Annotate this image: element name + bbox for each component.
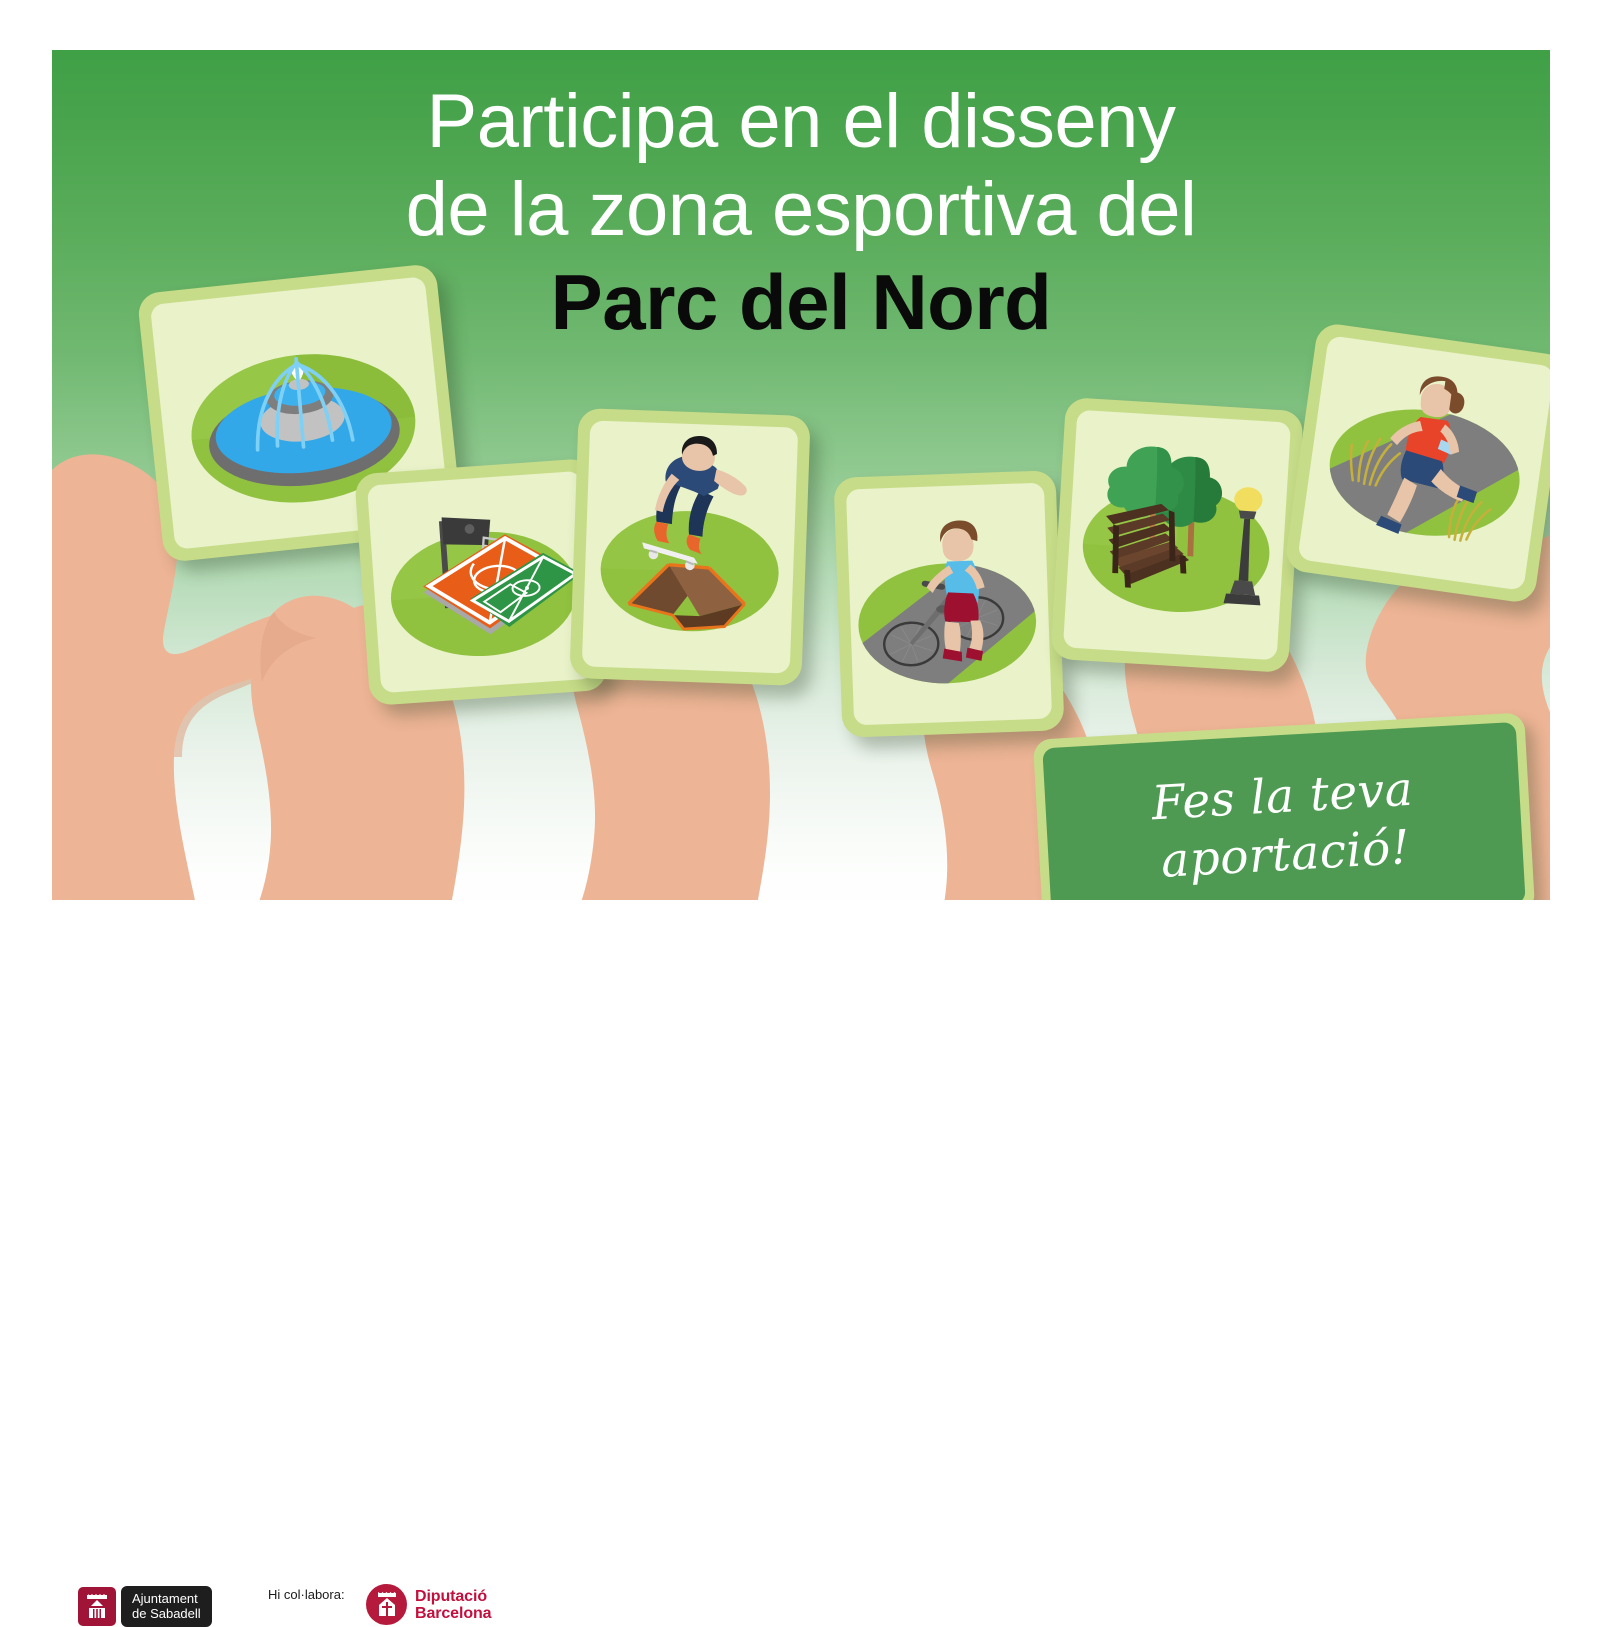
- sabadell-name-line-2: de Sabadell: [132, 1606, 201, 1621]
- runner-icon: [1297, 335, 1550, 591]
- card-skate[interactable]: [569, 408, 810, 686]
- diputacio-logo[interactable]: Diputació Barcelona: [366, 1584, 491, 1625]
- cyclist-icon: [846, 483, 1052, 726]
- card-courts-inner: [367, 471, 595, 693]
- sabadell-crest-shape: [84, 1592, 110, 1621]
- card-bike[interactable]: [834, 470, 1065, 738]
- headline-line-1: Participa en el disseny: [52, 78, 1550, 166]
- sabadell-name-line-1: Ajuntament: [132, 1591, 201, 1606]
- diputacio-name-line-1: Diputació: [415, 1588, 491, 1605]
- sabadell-name: Ajuntament de Sabadell: [121, 1586, 212, 1627]
- footer-logos: Ajuntament de Sabadell Hi col·labora: Di…: [0, 790, 1600, 850]
- sports-courts-icon: [367, 471, 595, 693]
- diputacio-crest-icon: [366, 1584, 407, 1625]
- headline-line-2: de la zona esportiva del: [52, 166, 1550, 254]
- card-runner-inner: [1297, 335, 1550, 591]
- skate-ramp-icon: [582, 420, 798, 673]
- card-skate-inner: [582, 420, 798, 673]
- diputacio-crest-shape: [375, 1591, 399, 1619]
- banner-stage: Participa en el disseny de la zona espor…: [0, 0, 1600, 900]
- diputacio-name-line-2: Barcelona: [415, 1605, 491, 1622]
- card-courts[interactable]: [354, 458, 608, 706]
- collaborate-label: Hi col·labora:: [268, 1587, 345, 1602]
- card-bench-tree-lamp-inner: [1063, 410, 1291, 661]
- bench-tree-lamp-icon: [1063, 410, 1291, 661]
- card-runner[interactable]: [1284, 322, 1550, 605]
- sabadell-logo[interactable]: Ajuntament de Sabadell: [78, 1586, 212, 1627]
- card-bike-inner: [846, 483, 1052, 726]
- diputacio-name: Diputació Barcelona: [415, 1588, 491, 1622]
- promo-banner: Participa en el disseny de la zona espor…: [52, 50, 1550, 900]
- card-bench[interactable]: [1050, 397, 1304, 673]
- sabadell-crest-icon: [78, 1587, 116, 1626]
